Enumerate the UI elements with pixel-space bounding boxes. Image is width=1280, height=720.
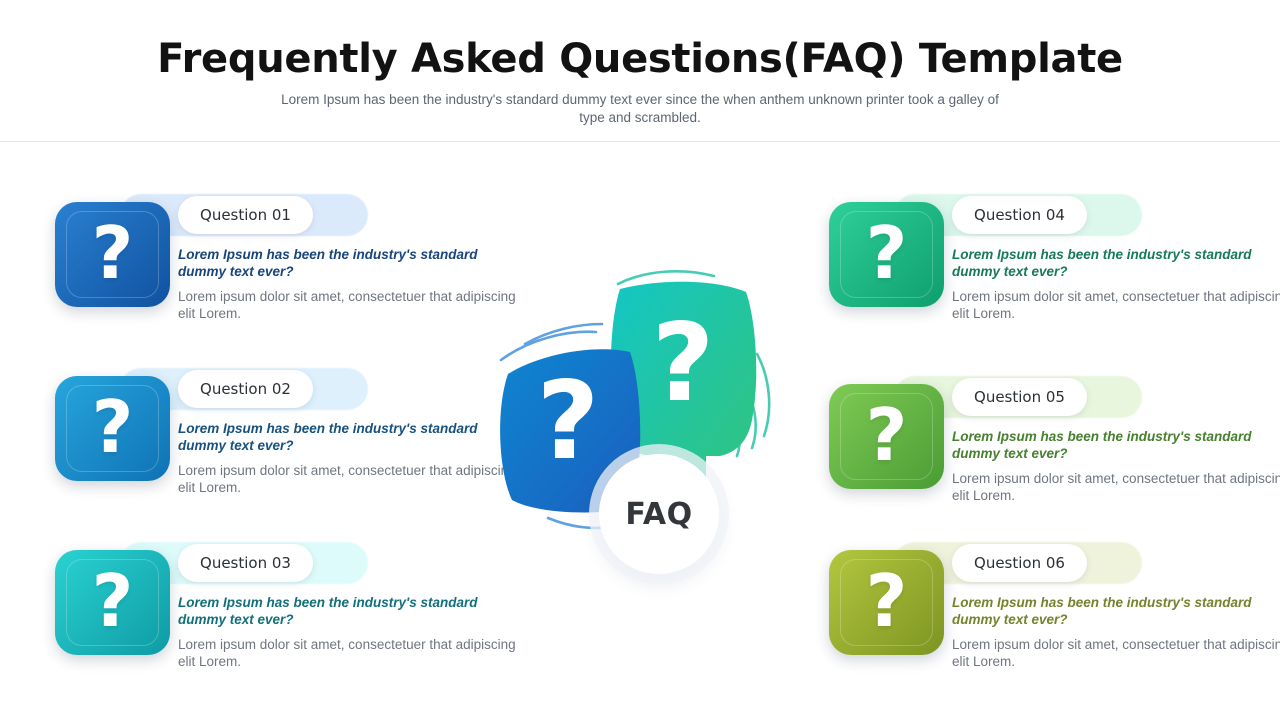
question-heading: Lorem Ipsum has been the industry's stan… (178, 594, 523, 628)
question-text-05: Lorem Ipsum has been the industry's stan… (952, 428, 1280, 504)
faq-badge: FAQ (599, 454, 719, 574)
question-icon-tile-04[interactable]: ? (829, 202, 944, 307)
question-body: Lorem ipsum dolor sit amet, consectetuer… (952, 288, 1280, 322)
question-mark-icon: ? (829, 202, 944, 307)
question-pill-label: Question 06 (974, 554, 1065, 572)
question-pill-06[interactable]: Question 06 (952, 544, 1087, 582)
question-mark-icon: ? (829, 550, 944, 655)
slide-header: Frequently Asked Questions(FAQ) Template… (0, 0, 1280, 141)
faq-slide: Frequently Asked Questions(FAQ) Template… (0, 0, 1280, 720)
question-mark-icon: ? (652, 301, 715, 426)
question-item-01[interactable]: ? Question 01 Lorem Ipsum has been the i… (55, 190, 525, 340)
question-icon-tile-02[interactable]: ? (55, 376, 170, 481)
question-icon-tile-06[interactable]: ? (829, 550, 944, 655)
question-text-03: Lorem Ipsum has been the industry's stan… (178, 594, 523, 670)
question-mark-icon: ? (55, 202, 170, 307)
question-mark-icon: ? (55, 376, 170, 481)
question-pill-03[interactable]: Question 03 (178, 544, 313, 582)
page-subtitle: Lorem Ipsum has been the industry's stan… (270, 91, 1010, 127)
question-pill-04[interactable]: Question 04 (952, 196, 1087, 234)
question-heading: Lorem Ipsum has been the industry's stan… (952, 428, 1280, 462)
faq-illustration: ? ? FAQ (468, 262, 798, 572)
question-body: Lorem ipsum dolor sit amet, consectetuer… (952, 470, 1280, 504)
faq-badge-label: FAQ (625, 497, 692, 532)
question-pill-label: Question 01 (200, 206, 291, 224)
question-pill-05[interactable]: Question 05 (952, 378, 1087, 416)
question-item-06[interactable]: ? Question 06 Lorem Ipsum has been the i… (829, 538, 1280, 688)
question-pill-label: Question 03 (200, 554, 291, 572)
question-body: Lorem ipsum dolor sit amet, consectetuer… (952, 636, 1280, 670)
page-title: Frequently Asked Questions(FAQ) Template (0, 36, 1280, 82)
question-item-04[interactable]: ? Question 04 Lorem Ipsum has been the i… (829, 190, 1280, 340)
question-icon-tile-03[interactable]: ? (55, 550, 170, 655)
question-pill-label: Question 02 (200, 380, 291, 398)
question-mark-icon: ? (829, 384, 944, 489)
question-heading: Lorem Ipsum has been the industry's stan… (952, 594, 1280, 628)
question-pill-label: Question 04 (974, 206, 1065, 224)
question-text-04: Lorem Ipsum has been the industry's stan… (952, 246, 1280, 322)
question-mark-icon: ? (537, 359, 600, 484)
question-pill-01[interactable]: Question 01 (178, 196, 313, 234)
question-body: Lorem ipsum dolor sit amet, consectetuer… (178, 636, 523, 670)
question-mark-icon: ? (55, 550, 170, 655)
question-text-06: Lorem Ipsum has been the industry's stan… (952, 594, 1280, 670)
question-pill-02[interactable]: Question 02 (178, 370, 313, 408)
question-item-02[interactable]: ? Question 02 Lorem Ipsum has been the i… (55, 364, 525, 514)
question-item-03[interactable]: ? Question 03 Lorem Ipsum has been the i… (55, 538, 525, 688)
question-pill-label: Question 05 (974, 388, 1065, 406)
question-icon-tile-05[interactable]: ? (829, 384, 944, 489)
question-item-05[interactable]: ? Question 05 Lorem Ipsum has been the i… (829, 372, 1280, 522)
header-divider (0, 141, 1280, 142)
question-heading: Lorem Ipsum has been the industry's stan… (952, 246, 1280, 280)
question-icon-tile-01[interactable]: ? (55, 202, 170, 307)
